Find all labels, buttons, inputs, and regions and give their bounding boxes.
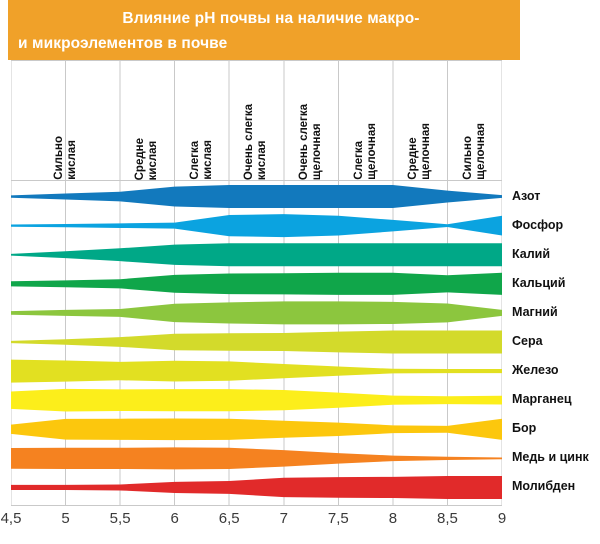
page-title: Влияние pH почвы на наличие макро- и мик…	[8, 6, 520, 56]
legend-item: Медь и цинк	[512, 450, 589, 464]
x-axis-labels: 4,555,566,577,588,59	[0, 510, 600, 544]
axis-tick-label: 7	[280, 510, 288, 527]
nutrient-band	[11, 185, 502, 208]
legend-item: Магний	[512, 305, 558, 319]
legend-item: Кальций	[512, 276, 565, 290]
legend-item: Марганец	[512, 392, 572, 406]
ph-category-label: Очень слегка щелочная	[298, 100, 324, 180]
axis-tick-label: 7,5	[328, 510, 349, 527]
nutrient-band	[11, 214, 502, 237]
legend-item: Азот	[512, 189, 540, 203]
ph-category-label: Очень слегка кислая	[243, 100, 269, 180]
ph-category-label: Сильно кислая	[53, 132, 79, 180]
title-bar: Влияние pH почвы на наличие макро- и мик…	[8, 0, 520, 60]
ph-category-cell: Очень слегка щелочная	[284, 60, 339, 180]
ph-category-label: Средне щелочная	[407, 119, 433, 180]
ph-category-cell: Сильно щелочная	[447, 60, 502, 180]
ph-category-cell: Средне кислая	[120, 60, 175, 180]
ph-category-label: Средне кислая	[134, 134, 160, 180]
axis-tick-label: 5,5	[110, 510, 131, 527]
nutrient-band	[11, 301, 502, 324]
legend-item: Бор	[512, 421, 536, 435]
nutrient-band	[11, 360, 502, 383]
nutrient-legend: АзотФосфорКалийКальцийМагнийСераЖелезоМа…	[512, 60, 600, 506]
ph-category-label: Слегка щелочная	[353, 119, 379, 180]
ph-category-cell: Средне щелочная	[393, 60, 448, 180]
legend-item: Молибден	[512, 479, 575, 493]
axis-tick-label: 9	[498, 510, 506, 527]
axis-tick-label: 5	[61, 510, 69, 527]
legend-item: Сера	[512, 334, 543, 348]
nutrient-band	[11, 273, 502, 295]
axis-tick-label: 6,5	[219, 510, 240, 527]
plot-area: Сильно кислаяСредне кислаяСлегка кислаяО…	[11, 60, 502, 506]
nutrient-band	[11, 243, 502, 266]
nutrient-band	[11, 476, 502, 499]
ph-category-header: Сильно кислаяСредне кислаяСлегка кислаяО…	[11, 60, 502, 180]
ph-category-cell: Слегка кислая	[175, 60, 230, 180]
legend-item: Железо	[512, 363, 559, 377]
axis-tick-label: 4,5	[1, 510, 22, 527]
nutrient-band	[11, 331, 502, 354]
ph-category-cell: Очень слегка кислая	[229, 60, 284, 180]
ph-category-cell: Сильно кислая	[11, 60, 120, 180]
nutrient-band	[11, 389, 502, 412]
ph-category-label: Слегка кислая	[189, 136, 215, 180]
legend-item: Калий	[512, 247, 550, 261]
nutrient-band	[11, 447, 502, 469]
ph-nutrient-availability-chart: Влияние pH почвы на наличие макро- и мик…	[0, 0, 600, 544]
axis-tick-label: 6	[170, 510, 178, 527]
ph-category-label: Сильно щелочная	[462, 119, 488, 180]
title-line-2: и микроэлементов в почве	[8, 31, 520, 56]
legend-item: Фосфор	[512, 218, 563, 232]
title-line-1: Влияние pH почвы на наличие макро-	[8, 6, 520, 31]
axis-tick-label: 8,5	[437, 510, 458, 527]
nutrient-band	[11, 418, 502, 440]
ph-category-cell: Слегка щелочная	[338, 60, 393, 180]
axis-tick-label: 8	[389, 510, 397, 527]
